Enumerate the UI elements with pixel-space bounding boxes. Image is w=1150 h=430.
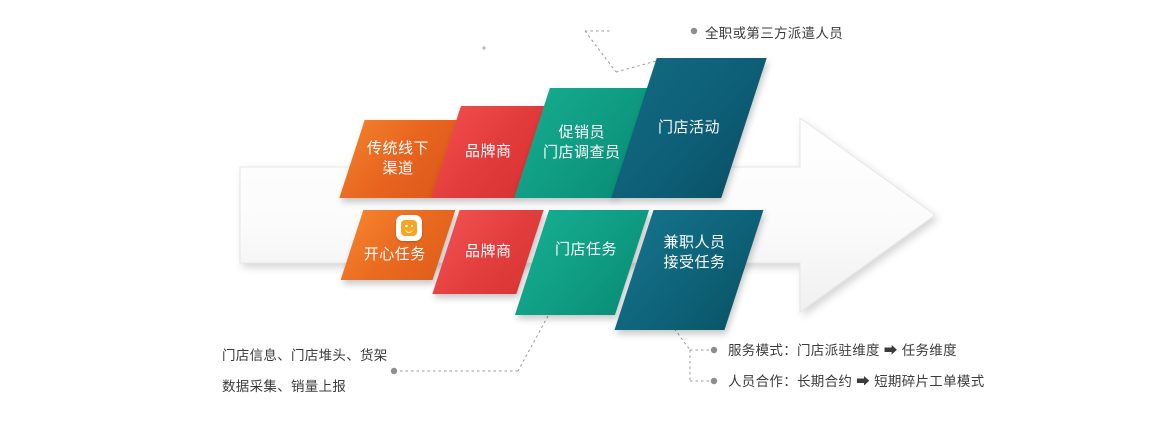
smiley-mouth (405, 228, 413, 233)
annotation-bottom-left: 门店信息、门店堆头、货架 数据采集、销量上报 (222, 340, 388, 402)
connector-dot-bottom-right-2 (711, 378, 717, 384)
connector-dot-bottom-left (391, 368, 397, 374)
connector-dot-top (691, 28, 697, 34)
connector-bottom-left (392, 316, 548, 371)
smiley-eye-right (411, 225, 414, 228)
block-bottom-1-label: 开心任务 (364, 245, 426, 265)
block-top-1-label: 传统线下 渠道 (367, 139, 429, 179)
block-bottom-3-label: 门店任务 (555, 240, 617, 260)
diagram-canvas: 传统线下 渠道 品牌商 促销员 门店调查员 门店活动 开心任务 品牌商 门店任务… (0, 0, 1150, 430)
annotation-bottom-right-service: 服务模式：门店派驻维度 ➡ 任务维度 (728, 338, 957, 364)
smiley-eye-left (405, 225, 408, 228)
block-top-3-label: 促销员 门店调查员 (543, 123, 621, 163)
connector-dot-bottom-right-1 (711, 347, 717, 353)
block-top-4-label: 门店活动 (658, 118, 720, 138)
connector-top-right (585, 31, 616, 72)
block-bottom-4-label: 兼职人员 接受任务 (664, 233, 726, 273)
smiley-app-icon (396, 215, 422, 241)
connector-dot-stray (482, 46, 485, 49)
annotation-top-right: 全职或第三方派遣人员 (705, 21, 843, 47)
block-bottom-2-label: 品牌商 (465, 242, 512, 262)
smiley-face (401, 220, 417, 236)
block-top-2-label: 品牌商 (465, 142, 512, 162)
annotation-bottom-right-cooperation: 人员合作：长期合约 ➡ 短期碎片工单模式 (728, 369, 985, 395)
